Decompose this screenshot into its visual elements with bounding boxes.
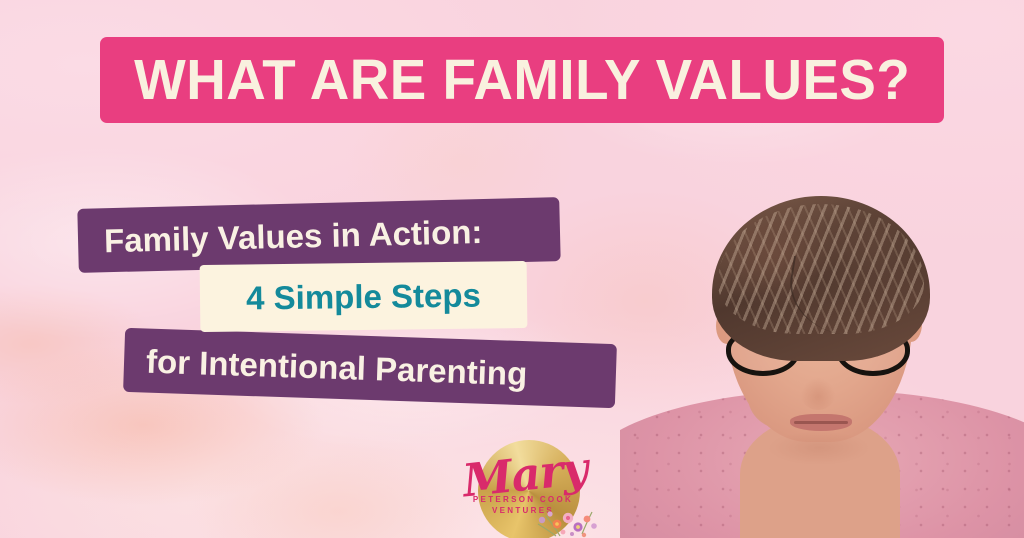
page-title: WHAT ARE FAMILY VALUES? <box>134 52 910 109</box>
subtitle-line-1-text: Family Values in Action: <box>104 215 483 257</box>
featured-image-canvas: WHAT ARE FAMILY VALUES? Family Values in… <box>0 0 1024 538</box>
brand-logo: PETERSON COOK VENTURES Mary <box>440 438 610 538</box>
portrait-photo <box>620 170 1024 538</box>
logo-floral-icon <box>532 494 610 538</box>
subtitle-line-2-text: 4 Simple Steps <box>246 279 481 315</box>
portrait-chin-shadow <box>760 432 878 472</box>
subtitle-block-2: 4 Simple Steps <box>200 261 528 332</box>
headline-banner: WHAT ARE FAMILY VALUES? <box>100 37 944 123</box>
portrait-mouth <box>790 414 852 431</box>
subtitle-line-3-text: for Intentional Parenting <box>146 344 528 390</box>
